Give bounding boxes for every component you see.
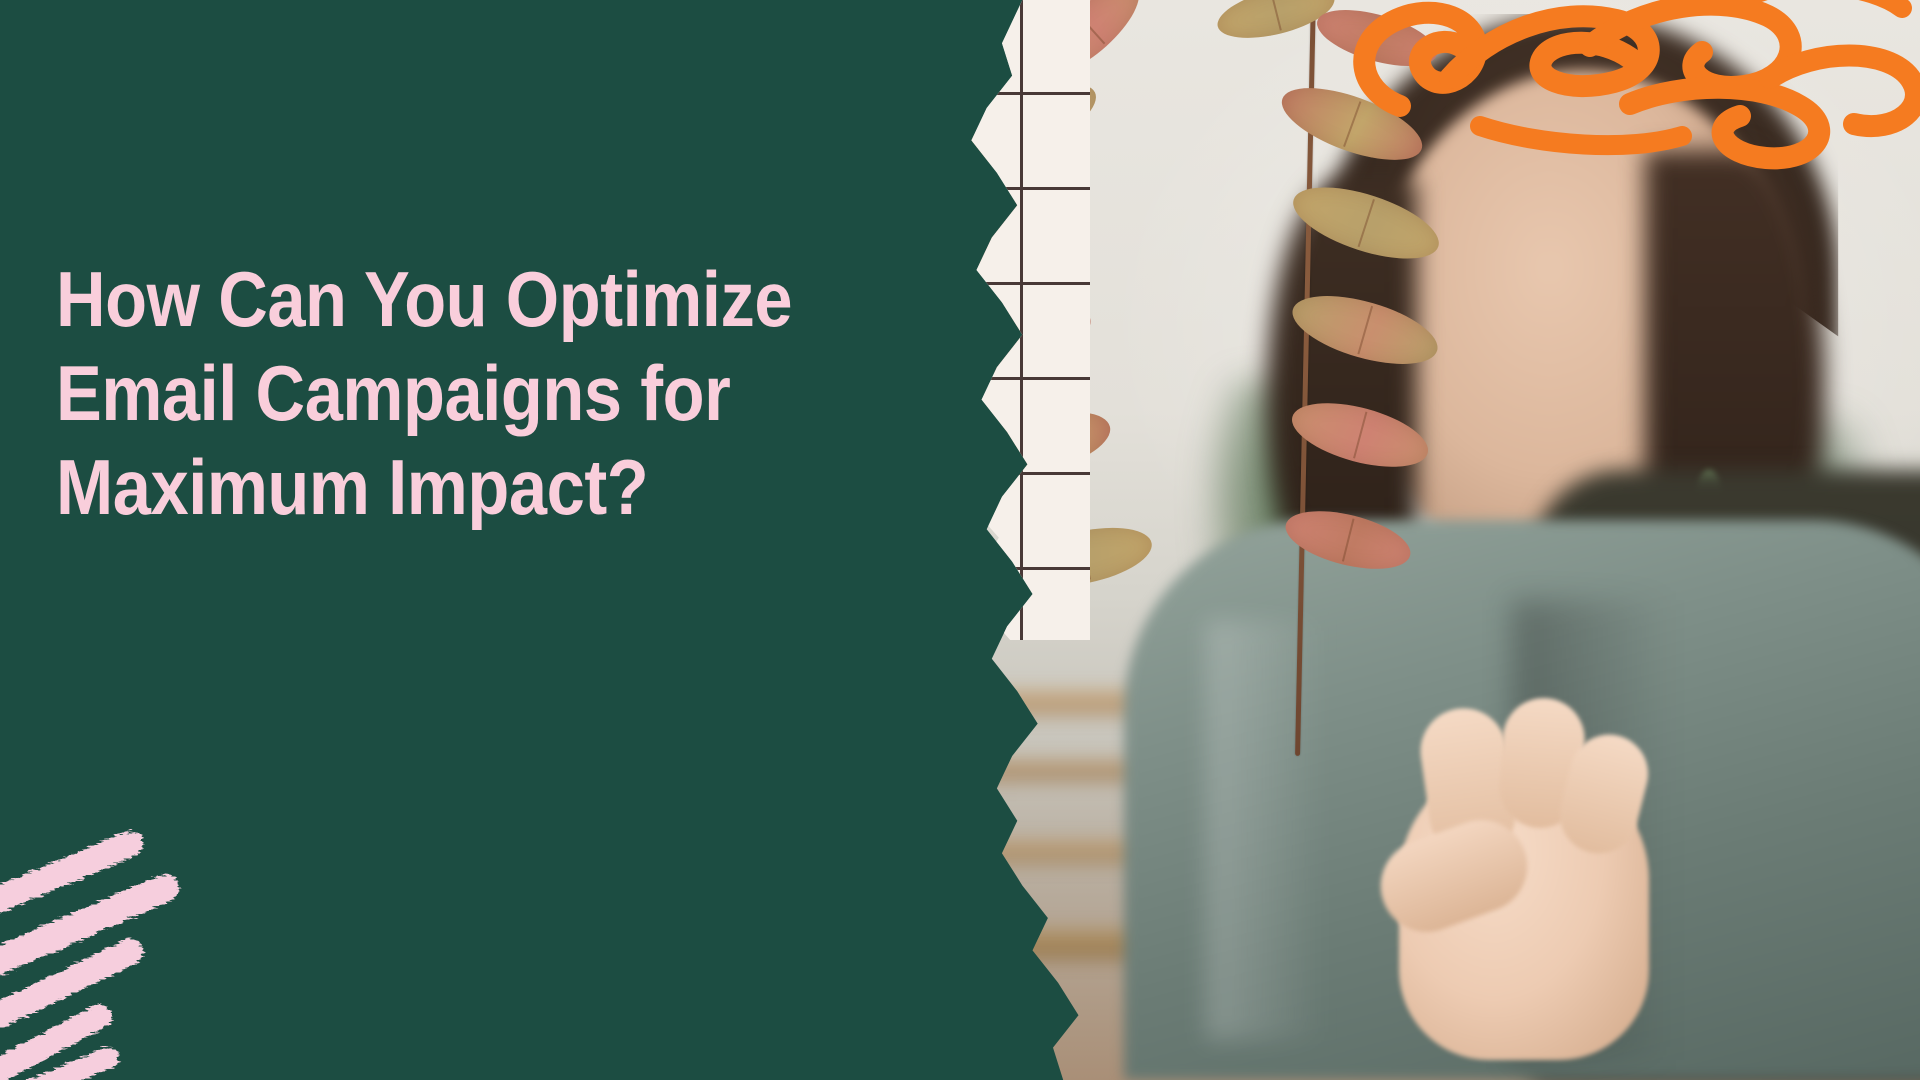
headline-line-3: Maximum Impact? xyxy=(56,440,848,534)
leaflet xyxy=(1311,0,1443,77)
photo-panel xyxy=(900,0,1920,1080)
pink-brush-strokes-icon xyxy=(0,800,310,1080)
leaflet xyxy=(1286,391,1435,479)
headline-line-1: How Can You Optimize xyxy=(56,252,848,346)
banner-canvas: How Can You Optimize Email Campaigns for… xyxy=(0,0,1920,1080)
headline-line-2: Email Campaigns for xyxy=(56,346,848,440)
leaflet xyxy=(1273,73,1431,174)
page-title: How Can You Optimize Email Campaigns for… xyxy=(56,252,956,534)
